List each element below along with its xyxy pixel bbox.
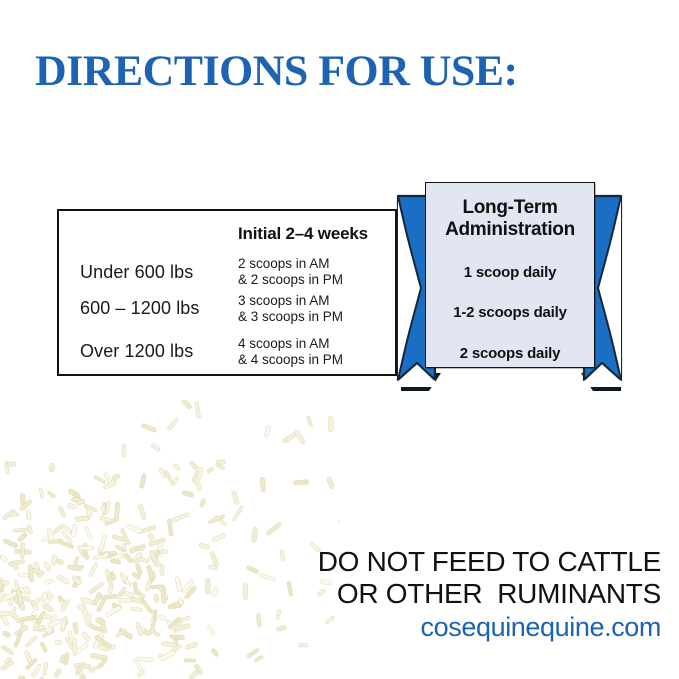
table-row-dose: 4 scoops in AM & 4 scoops in PM [238, 336, 343, 368]
long-term-administration-panel: Long-Term Administration 1 scoop daily 1… [425, 182, 595, 368]
poster-canvas: DIRECTIONS FOR USE: Initial 2–4 weeks Un… [0, 0, 679, 679]
dose-am: 2 scoops in AM [238, 256, 330, 271]
panel-title-line2: Administration [445, 219, 575, 240]
dose-am: 3 scoops in AM [238, 293, 330, 308]
website-link[interactable]: cosequinequine.com [0, 612, 661, 643]
dose-pm: & 3 scoops in PM [238, 309, 343, 324]
panel-dose-row: 1 scoop daily [426, 264, 594, 281]
warning-text: DO NOT FEED TO CATTLE OR OTHER RUMINANTS [0, 546, 661, 610]
table-row-dose: 2 scoops in AM & 2 scoops in PM [238, 256, 343, 288]
dose-pm: & 2 scoops in PM [238, 272, 343, 287]
table-column-header: Initial 2–4 weeks [238, 224, 368, 244]
panel-dose-row: 2 scoops daily [426, 345, 594, 362]
warning-line-1: DO NOT FEED TO CATTLE [318, 546, 661, 577]
dose-pm: & 4 scoops in PM [238, 352, 343, 367]
table-row-weight: 600 – 1200 lbs [80, 298, 200, 319]
table-row-weight: Under 600 lbs [80, 262, 193, 283]
page-title: DIRECTIONS FOR USE: [35, 47, 518, 96]
table-row-weight: Over 1200 lbs [80, 341, 193, 362]
panel-title: Long-Term Administration [426, 197, 594, 241]
dose-am: 4 scoops in AM [238, 336, 330, 351]
table-row-dose: 3 scoops in AM & 3 scoops in PM [238, 293, 343, 325]
panel-dose-row: 1-2 scoops daily [426, 304, 594, 321]
panel-title-line1: Long-Term [462, 197, 557, 218]
warning-line-2: OR OTHER RUMINANTS [337, 578, 661, 609]
